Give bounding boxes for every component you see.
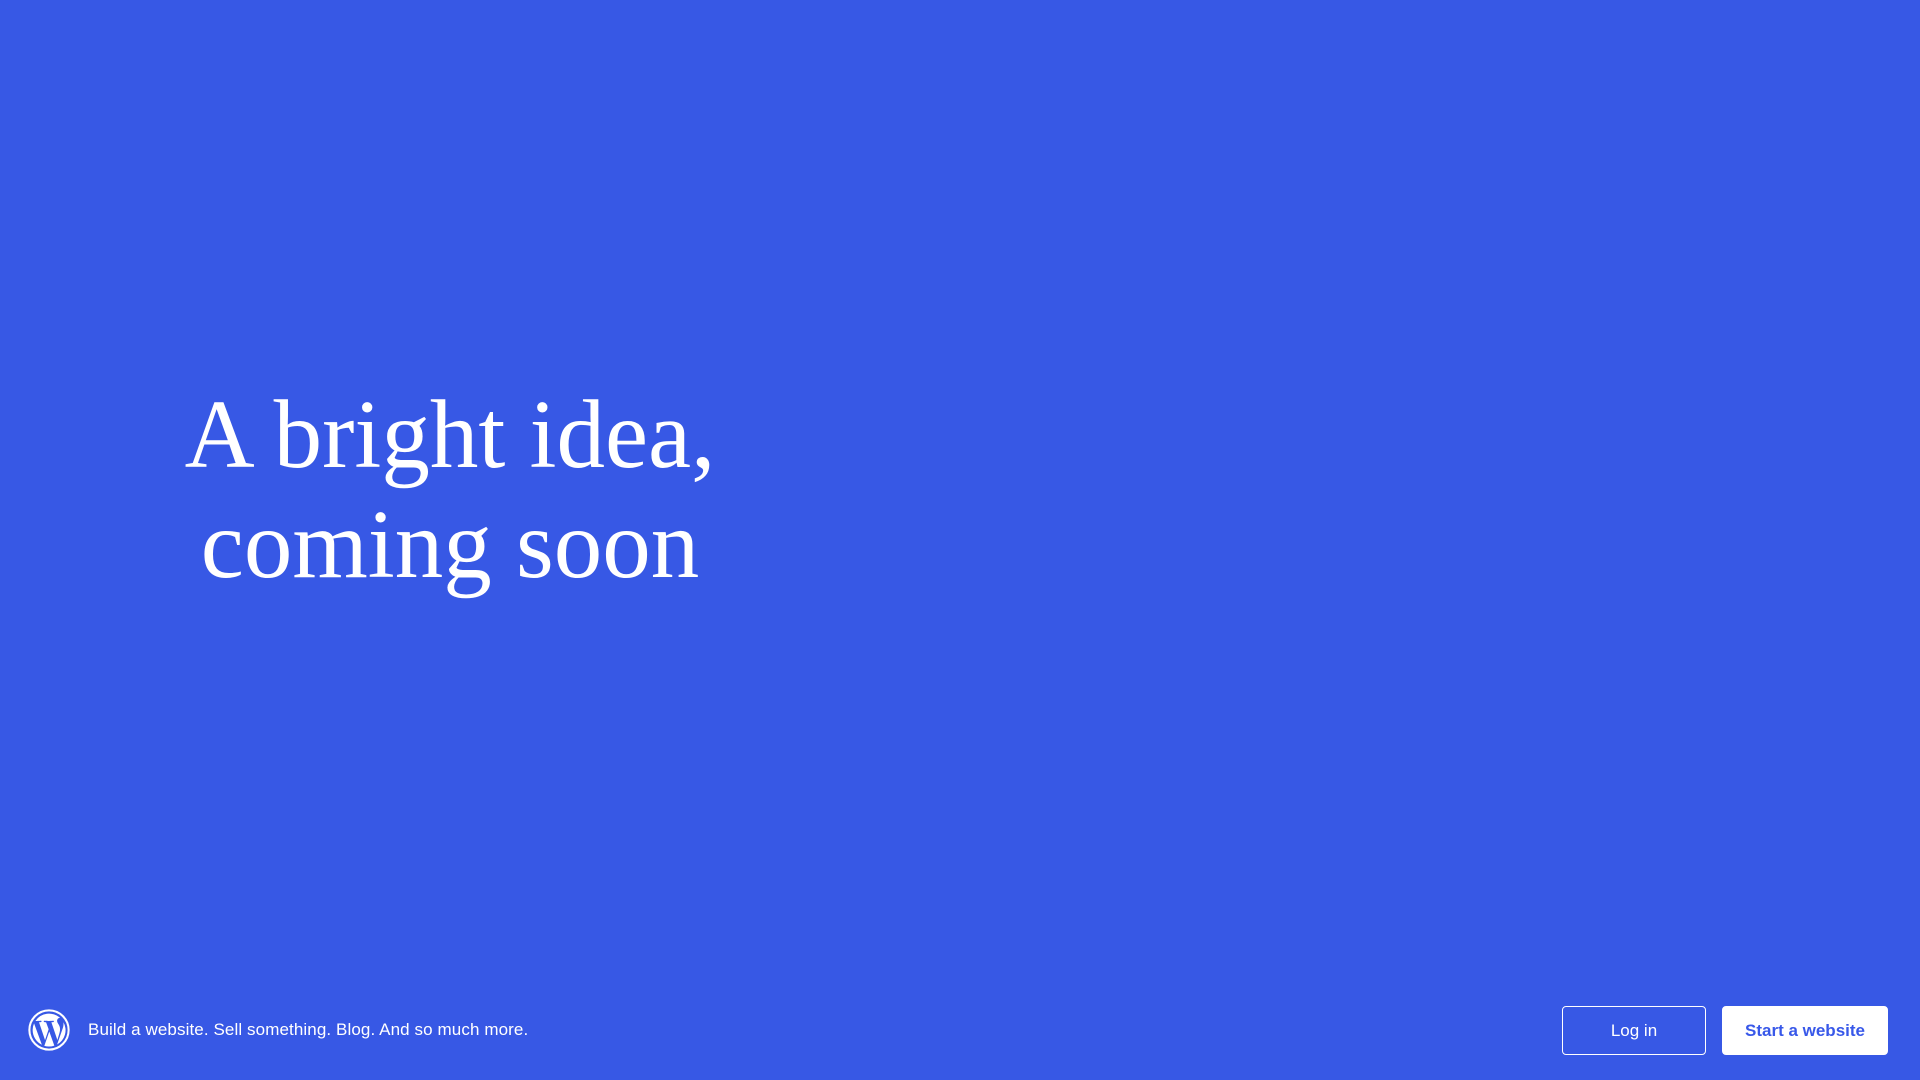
hero-section: A bright idea, coming soon bbox=[0, 0, 1920, 980]
wordpress-logo-icon bbox=[28, 1009, 70, 1051]
hero-content: A bright idea, coming soon bbox=[120, 380, 780, 600]
log-in-button[interactable]: Log in bbox=[1562, 1006, 1706, 1055]
page-title: A bright idea, coming soon bbox=[120, 380, 780, 600]
coming-soon-page: A bright idea, coming soon Build a websi… bbox=[0, 0, 1920, 1080]
start-a-website-button[interactable]: Start a website bbox=[1722, 1006, 1888, 1055]
footer-branding: Build a website. Sell something. Blog. A… bbox=[28, 1009, 1562, 1051]
footer-actions: Log in Start a website bbox=[1562, 1006, 1888, 1055]
footer-bar: Build a website. Sell something. Blog. A… bbox=[0, 980, 1920, 1080]
footer-tagline: Build a website. Sell something. Blog. A… bbox=[88, 1019, 528, 1041]
